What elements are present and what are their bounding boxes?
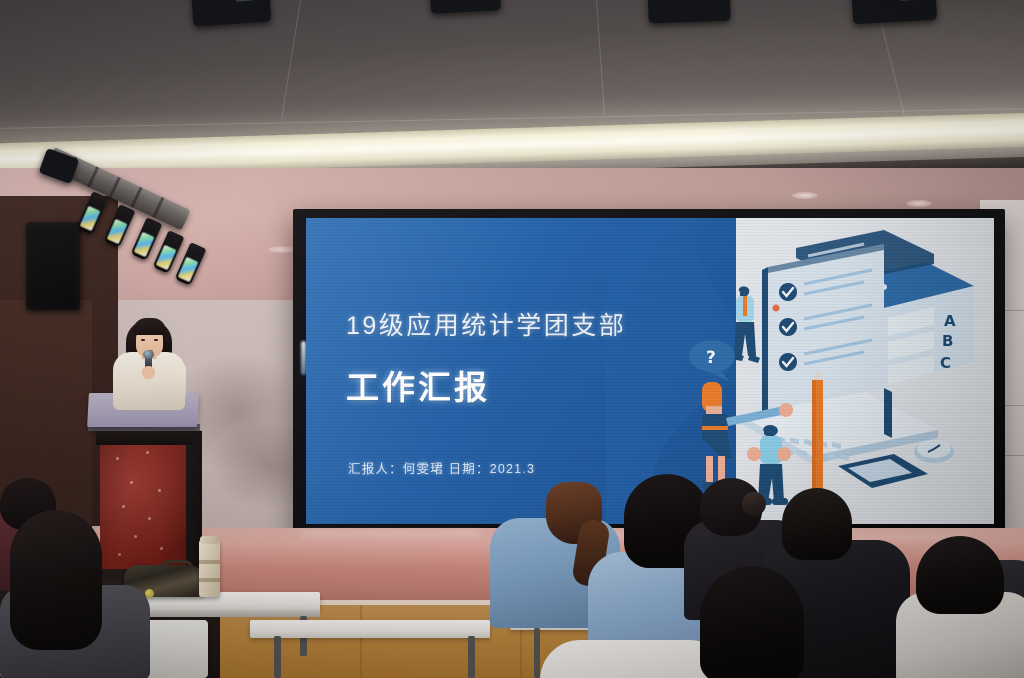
stage-reflection (300, 530, 480, 538)
wall-speaker-icon (26, 222, 80, 310)
stage-wood-grain (360, 605, 362, 678)
audience-hair (700, 566, 804, 678)
audience-hair (916, 536, 1004, 614)
svg-text:A: A (944, 312, 956, 330)
audience-hair (782, 488, 852, 560)
thermos-lid (200, 536, 219, 544)
recessed-downlight-icon (792, 192, 818, 199)
slide-title-line: 19级应用统计学团支部 (346, 306, 626, 342)
audience-desk (250, 620, 490, 638)
presenter-eye (141, 339, 145, 341)
svg-text:B: B (942, 332, 953, 350)
audience-hair-bun (742, 492, 766, 516)
microphone-head (143, 350, 154, 359)
thermos-band (199, 560, 220, 564)
ceiling-spotlight-icon (647, 0, 730, 23)
gold-keychain-icon (145, 589, 154, 598)
desk-leg (274, 636, 281, 678)
podium-body (100, 443, 186, 575)
desk-leg (534, 628, 540, 678)
presenter-hand (142, 366, 155, 379)
photo-scene: A B C (0, 0, 1024, 678)
recessed-downlight-icon (268, 246, 294, 253)
thermos-band (199, 578, 220, 582)
chair (140, 620, 208, 678)
slide-illustration: A B C (688, 230, 988, 515)
presenter-eye (154, 339, 158, 341)
svg-text:?: ? (706, 348, 716, 368)
svg-text:C: C (940, 354, 951, 372)
presenter-hair-top (133, 318, 166, 335)
slide-title-bold: 工作汇报 (346, 361, 490, 409)
recessed-downlight-icon (906, 200, 932, 207)
slide-meta-line: 汇报人：何雯珺 日期：2021.3 (348, 458, 535, 477)
desk-leg (468, 636, 475, 678)
thermos-cup (199, 539, 220, 597)
audience-hair (10, 510, 102, 650)
